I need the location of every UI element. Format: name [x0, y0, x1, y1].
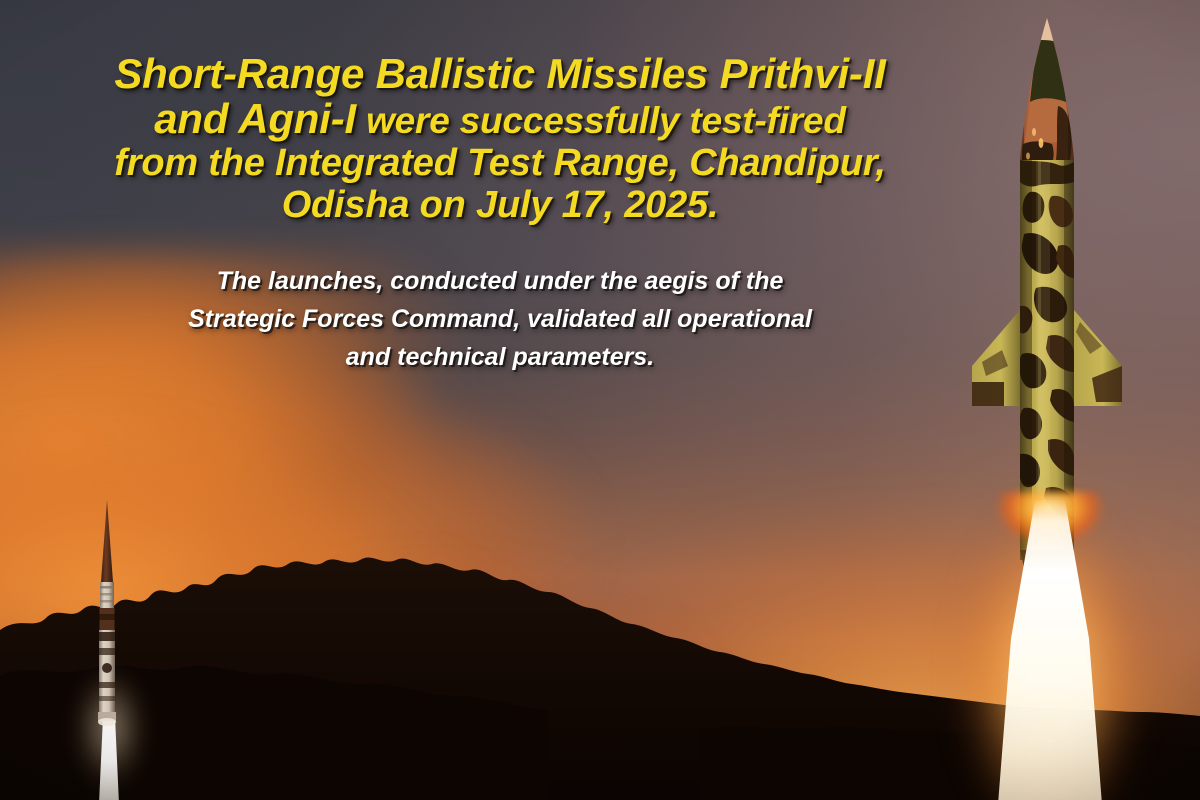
text-overlay: Short-Range Ballistic Missiles Prithvi-I…: [0, 0, 1000, 376]
subhead-line-2: Strategic Forces Command, validated all …: [0, 300, 1000, 338]
headline-line-2: and Agni-I were successfully test-fired: [0, 97, 1000, 142]
missile-launch-poster: Short-Range Ballistic Missiles Prithvi-I…: [0, 0, 1200, 800]
agni-i-missile: [86, 498, 128, 730]
headline-block: Short-Range Ballistic Missiles Prithvi-I…: [0, 0, 1000, 226]
subhead-line-3: and technical parameters.: [0, 338, 1000, 376]
subhead-line-1: The launches, conducted under the aegis …: [0, 262, 1000, 300]
headline-line-1: Short-Range Ballistic Missiles Prithvi-I…: [0, 52, 1000, 97]
subhead-block: The launches, conducted under the aegis …: [0, 262, 1000, 376]
headline-line-4: Odisha on July 17, 2025.: [0, 185, 1000, 225]
headline-line-2-part-b: were successfully test-fired: [366, 100, 846, 141]
headline-line-3: from the Integrated Test Range, Chandipu…: [0, 143, 1000, 183]
headline-line-2-part-a: and Agni-I: [154, 95, 356, 142]
